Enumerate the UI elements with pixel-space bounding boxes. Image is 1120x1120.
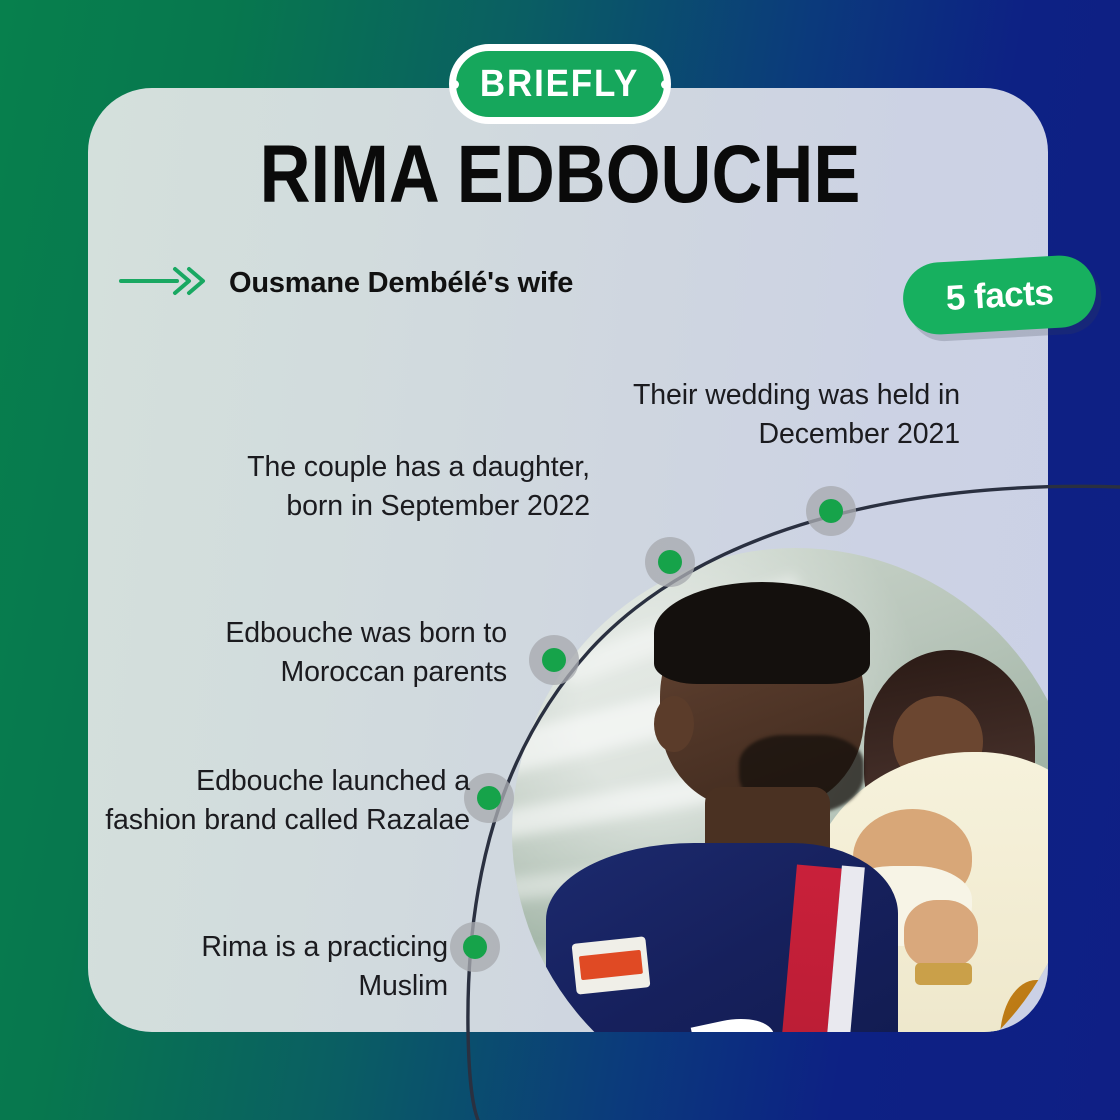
badge-pill: 5 facts	[901, 254, 1098, 337]
hand	[904, 900, 978, 968]
content-card	[88, 88, 1048, 1032]
page-title: RIMA EDBOUCHE	[78, 134, 1041, 216]
badge-label: 5 facts	[945, 275, 1054, 316]
fact-label: Their wedding was held in December 2021	[630, 376, 960, 454]
page-subtitle: Ousmane Dembélé's wife	[229, 267, 573, 300]
person-photo	[512, 548, 1048, 1032]
fact-label: Edbouche was born to Moroccan parents	[217, 614, 507, 692]
fact-label: Edbouche launched a fashion brand called…	[100, 762, 470, 840]
wristwatch	[915, 963, 972, 986]
fact-label: Rima is a practicing Muslim	[108, 928, 448, 1006]
fact-label: The couple has a daughter, born in Septe…	[230, 448, 590, 526]
logo-dot-left-icon	[450, 80, 459, 89]
sleeve-patch	[572, 936, 651, 995]
infographic-canvas: RIMA EDBOUCHE Ousmane Dembélé's wife 5 f…	[0, 0, 1120, 1120]
footballer-hair	[654, 582, 870, 684]
footballer-ear	[654, 696, 694, 753]
brand-logo[interactable]: BRIEFLY	[449, 44, 671, 124]
arrow-right-double-chevron-icon	[119, 266, 211, 301]
brand-name: BRIEFLY	[480, 65, 639, 103]
subtitle-row: Ousmane Dembélé's wife	[119, 266, 573, 301]
facts-count-badge[interactable]: 5 facts	[901, 254, 1098, 337]
logo-dot-right-icon	[661, 80, 670, 89]
